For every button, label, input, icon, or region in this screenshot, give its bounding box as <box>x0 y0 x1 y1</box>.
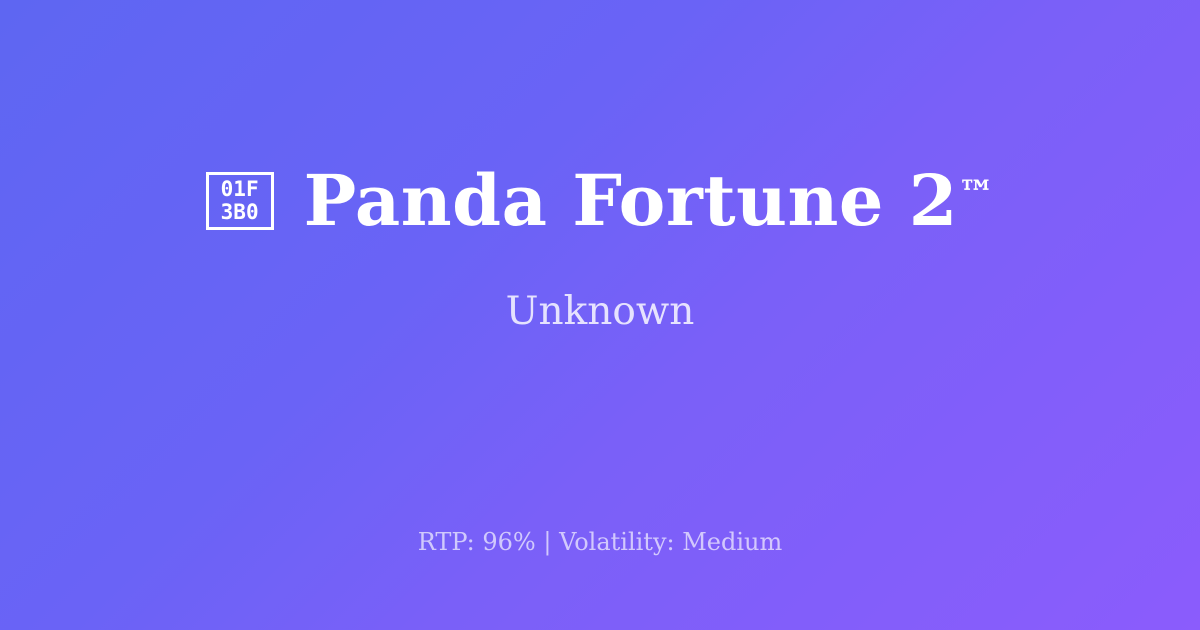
game-preview-card: 01F 3B0 Panda Fortune 2™ Unknown RTP: 96… <box>0 0 1200 630</box>
game-title-text: Panda Fortune 2 <box>304 159 958 242</box>
game-provider: Unknown <box>506 289 695 336</box>
tofu-codepoint-line-2: 3B0 <box>221 201 259 223</box>
title-row: 01F 3B0 Panda Fortune 2™ <box>40 164 1160 238</box>
game-title: Panda Fortune 2™ <box>304 164 995 238</box>
hero-block: 01F 3B0 Panda Fortune 2™ Unknown <box>0 0 1200 500</box>
game-meta-line: RTP: 96% | Volatility: Medium <box>0 528 1200 557</box>
trademark-symbol: ™ <box>958 172 994 215</box>
slot-machine-icon: 01F 3B0 <box>206 172 274 230</box>
tofu-codepoint-line-1: 01F <box>221 178 259 200</box>
